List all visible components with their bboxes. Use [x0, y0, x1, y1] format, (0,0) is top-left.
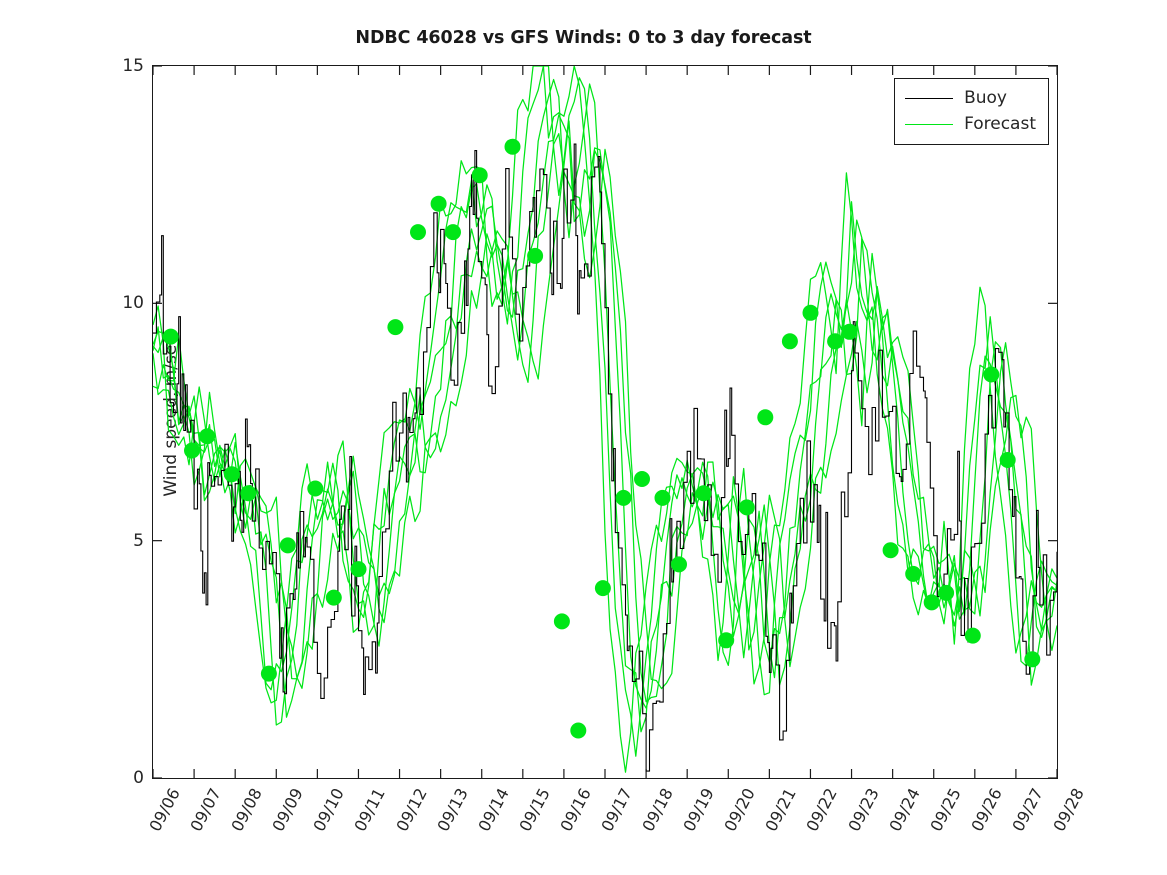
x-tick-label: 09/24 [885, 785, 923, 835]
y-tick-label: 5 [133, 531, 144, 551]
figure-canvas: NDBC 46028 vs GFS Winds: 0 to 3 day fore… [0, 0, 1167, 875]
forecast-marker [472, 167, 488, 183]
forecast-marker [307, 481, 323, 497]
forecast-marker [199, 428, 215, 444]
forecast-marker [938, 585, 954, 601]
forecast-marker [410, 224, 426, 240]
x-tick-label: 09/26 [967, 785, 1005, 835]
forecast-marker [842, 324, 858, 340]
buoy-series-line [153, 144, 1057, 771]
x-tick-label: 09/28 [1049, 785, 1087, 835]
x-tick-label: 09/21 [762, 785, 800, 835]
x-tick-label: 09/13 [433, 785, 471, 835]
forecast-marker [224, 466, 240, 482]
forecast-marker [527, 248, 543, 264]
forecast-marker [431, 196, 447, 212]
x-tick-label: 09/08 [228, 785, 266, 835]
forecast-marker [883, 542, 899, 558]
legend-label-buoy: Buoy [964, 90, 1007, 107]
forecast-marker [671, 556, 687, 572]
forecast-marker [803, 305, 819, 321]
forecast-marker [924, 594, 940, 610]
x-tick-label: 09/15 [515, 785, 553, 835]
x-tick-label: 09/12 [392, 785, 430, 835]
y-tick-label: 10 [122, 293, 144, 313]
forecast-marker [616, 490, 632, 506]
x-tick-label: 09/06 [145, 785, 183, 835]
x-tick-label: 09/14 [474, 785, 512, 835]
plot-area: Wind speed, m/sec 051015 09/0609/0709/08… [152, 65, 1058, 779]
forecast-marker [570, 723, 586, 739]
forecast-marker [554, 613, 570, 629]
forecast-marker [718, 632, 734, 648]
forecast-path [153, 121, 1057, 689]
x-tick-label: 09/22 [803, 785, 841, 835]
forecast-marker [757, 409, 773, 425]
legend-box[interactable]: Buoy Forecast [894, 78, 1049, 145]
forecast-marker [696, 485, 712, 501]
x-tick-label: 09/10 [310, 785, 348, 835]
forecast-marker [280, 537, 296, 553]
forecast-marker [655, 490, 671, 506]
forecast-marker [351, 561, 367, 577]
legend-item-buoy[interactable]: Buoy [905, 85, 1036, 111]
forecast-marker [595, 580, 611, 596]
chart-title: NDBC 46028 vs GFS Winds: 0 to 3 day fore… [0, 28, 1167, 48]
x-tick-label: 09/07 [186, 785, 224, 835]
forecast-marker [261, 666, 277, 682]
x-tick-label: 09/25 [926, 785, 964, 835]
forecast-marker [184, 443, 200, 459]
plot-canvas [153, 66, 1057, 778]
forecast-path [153, 66, 1057, 772]
x-tick-label: 09/18 [638, 785, 676, 835]
forecast-marker [782, 333, 798, 349]
forecast-marker [445, 224, 461, 240]
x-tick-label: 09/17 [597, 785, 635, 835]
x-tick-label: 09/20 [721, 785, 759, 835]
x-tick-label: 09/16 [556, 785, 594, 835]
forecast-marker [240, 485, 256, 501]
buoy-path [153, 144, 1057, 771]
x-tick-label: 09/19 [680, 785, 718, 835]
forecast-marker [163, 329, 179, 345]
x-tick-label: 09/09 [269, 785, 307, 835]
forecast-marker [739, 499, 755, 515]
y-tick-label: 0 [133, 768, 144, 788]
forecast-marker [634, 471, 650, 487]
forecast-marker [827, 333, 843, 349]
forecast-path [153, 66, 1057, 756]
legend-label-forecast: Forecast [964, 116, 1036, 133]
forecast-marker [1024, 651, 1040, 667]
legend-swatch-forecast [905, 124, 953, 125]
forecast-marker [1000, 452, 1016, 468]
legend-item-forecast[interactable]: Forecast [905, 111, 1036, 137]
forecast-series-lines [153, 66, 1057, 772]
y-tick-label: 15 [122, 56, 144, 76]
forecast-marker [387, 319, 403, 335]
x-tick-label: 09/27 [1008, 785, 1046, 835]
legend-swatch-buoy [905, 98, 953, 99]
forecast-marker [505, 139, 521, 155]
forecast-marker [983, 367, 999, 383]
forecast-marker [326, 590, 342, 606]
x-tick-label: 09/11 [351, 785, 389, 835]
forecast-marker [905, 566, 921, 582]
forecast-path [153, 134, 1057, 702]
x-tick-label: 09/23 [844, 785, 882, 835]
forecast-marker [965, 628, 981, 644]
forecast-path [153, 115, 1057, 717]
